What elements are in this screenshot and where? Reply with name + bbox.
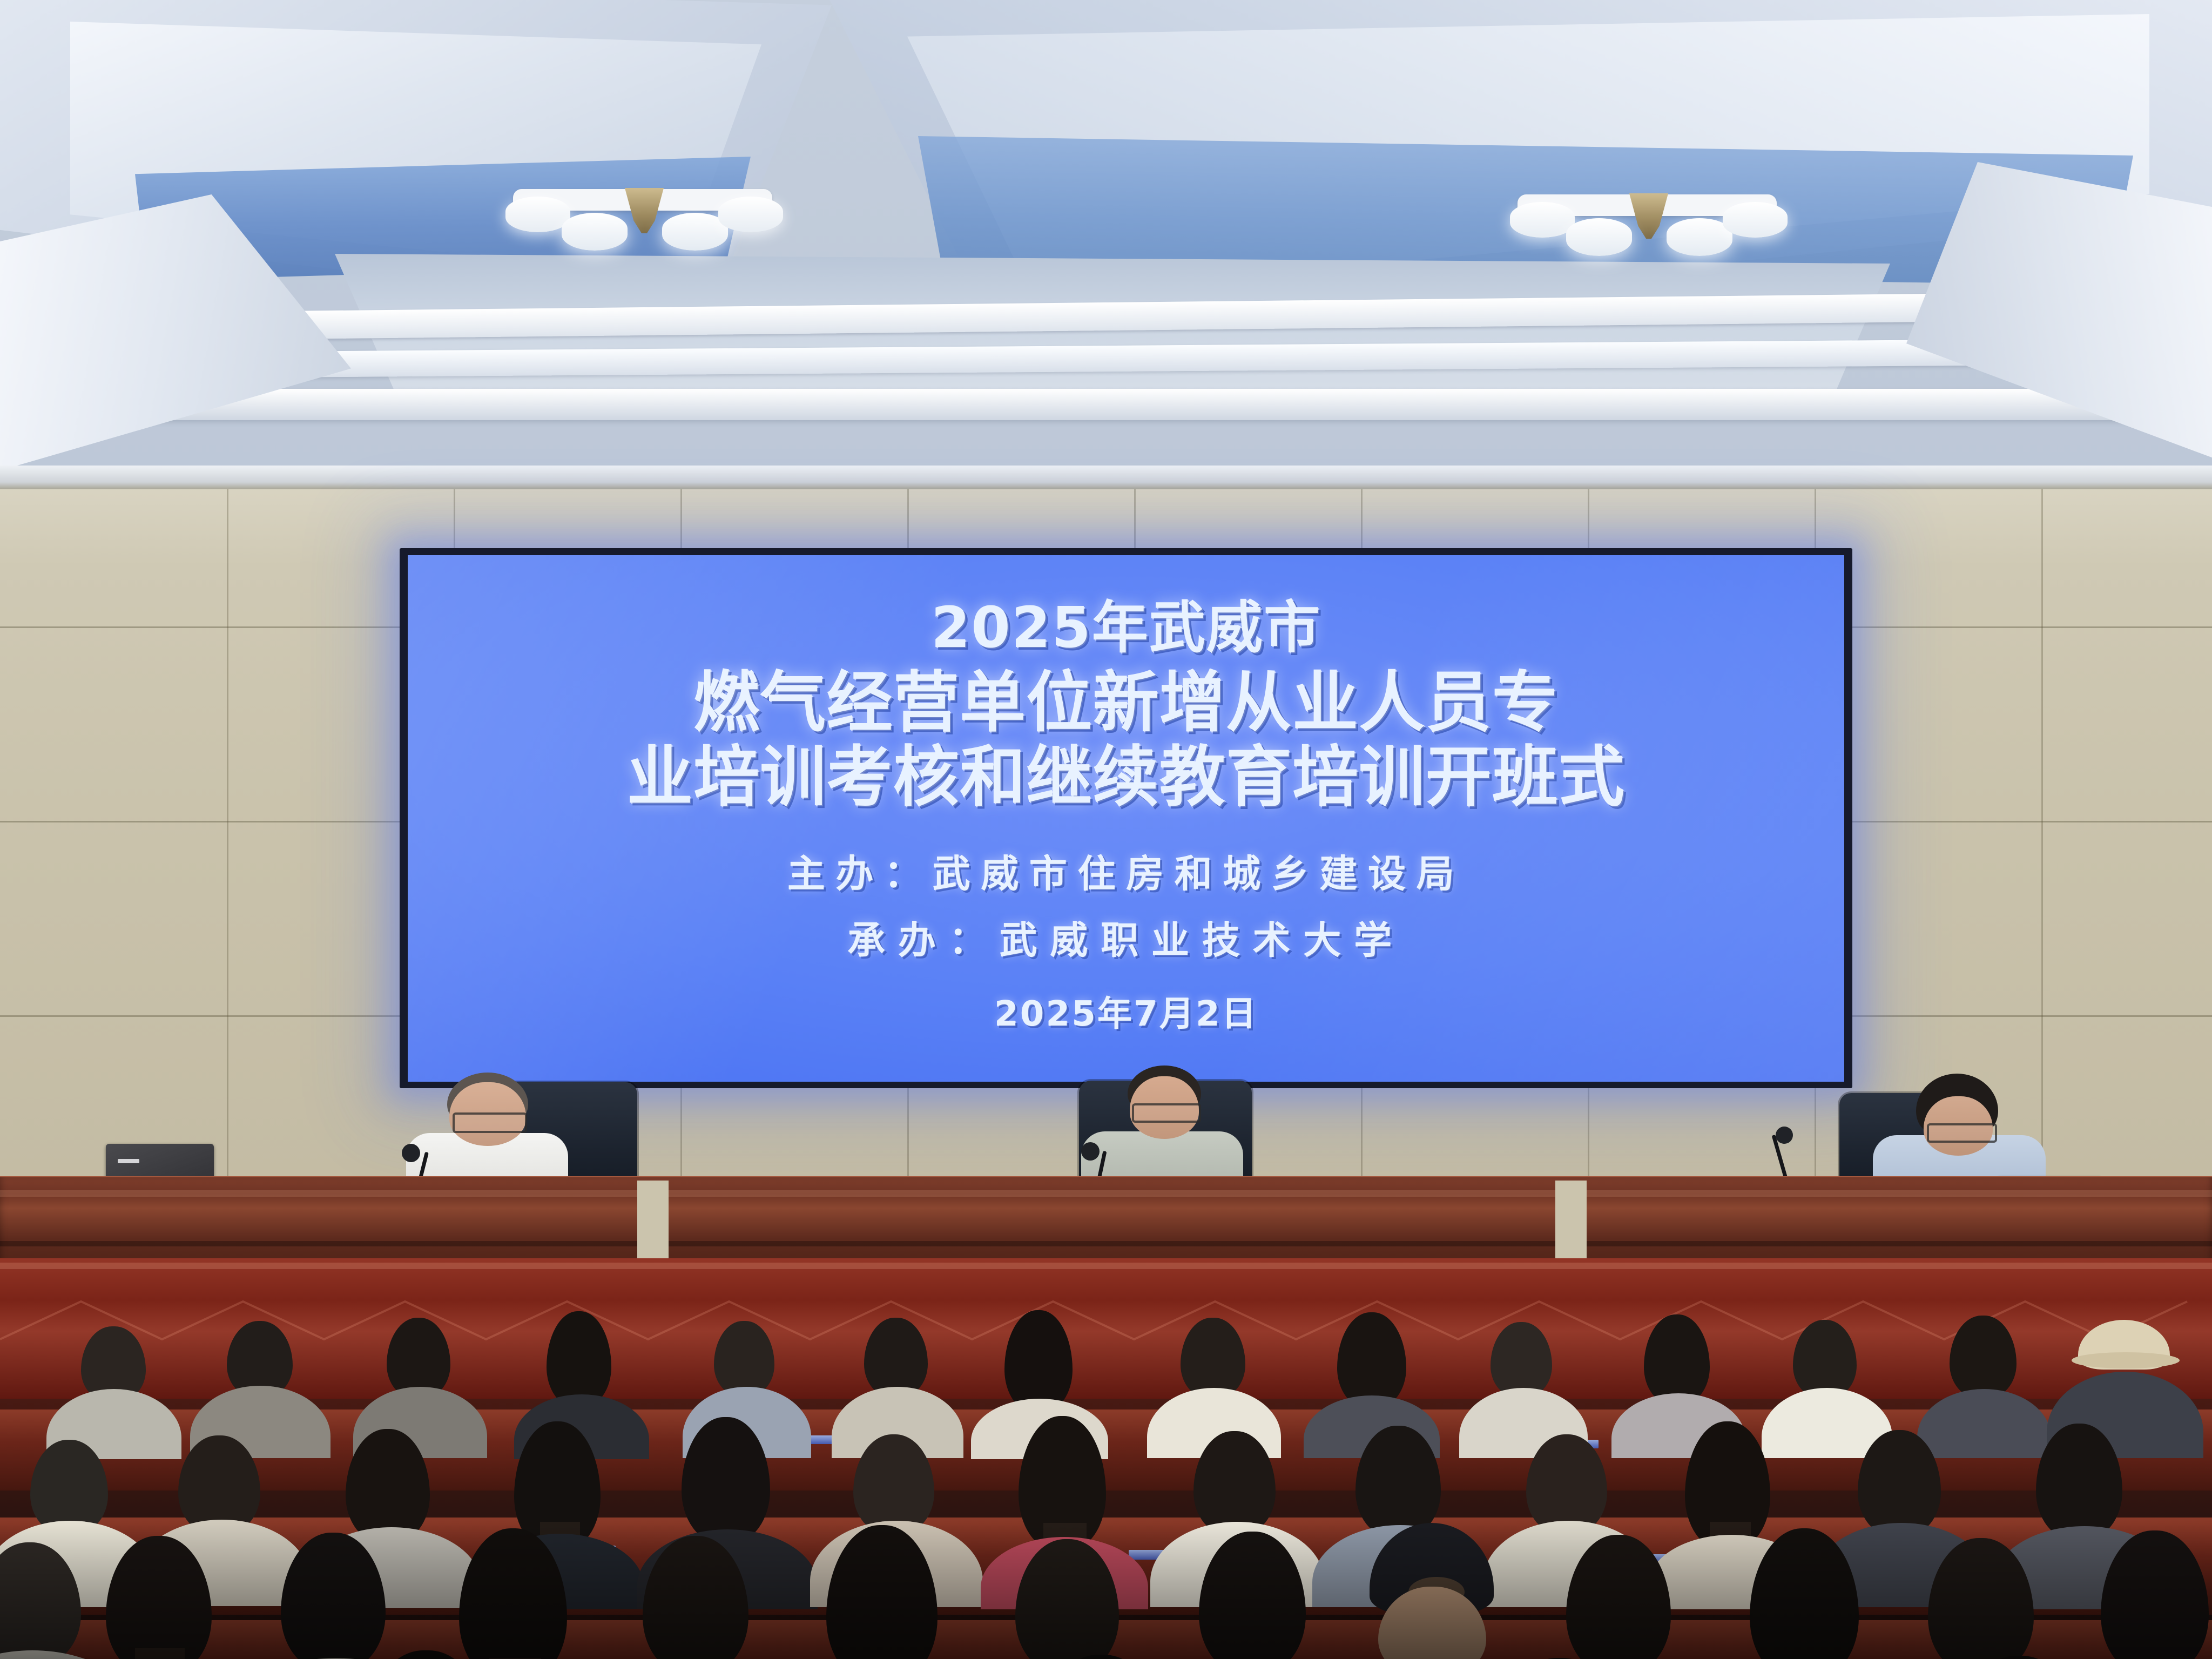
light-lamp-4: [718, 197, 783, 232]
attendee-head: [1950, 1656, 2089, 1659]
presenter-glasses: [1132, 1103, 1201, 1123]
microphone-head[interactable]: [1776, 1127, 1793, 1144]
audience-row-4: [0, 1599, 2212, 1659]
ceiling-light-fixture-left: [502, 173, 794, 275]
laptop-brand-logo: [118, 1159, 139, 1163]
microphone-head[interactable]: [1081, 1142, 1100, 1161]
attendee-head: [714, 1321, 774, 1397]
screen-title-line-1: 2025年武威市: [408, 597, 1844, 658]
led-screen[interactable]: 2025年武威市 燃气经营单位新增从业人员专 业培训考核和继续教育培训开班式 主…: [408, 555, 1844, 1082]
presenter-glasses: [1927, 1123, 1997, 1143]
attendee-head-ponytail: [356, 1650, 496, 1659]
crown-moulding-3: [76, 389, 2149, 420]
desk-moulding-lower: [0, 1241, 2212, 1246]
attendee-head: [1793, 1320, 1857, 1399]
light-lamp-1: [505, 197, 570, 232]
light-lamp-4: [1723, 202, 1788, 238]
light-center-brass: [622, 188, 666, 233]
desk-moulding-upper: [0, 1190, 2212, 1197]
presenter-glasses: [453, 1112, 527, 1133]
screen-title-line-3: 业培训考核和继续教育培训开班式: [408, 742, 1844, 813]
screen-host-line: 主办：武威市住房和城乡建设局: [408, 844, 1844, 898]
screen-organizer-line: 承办：武威职业技术大学: [408, 910, 1844, 965]
ceiling-light-fixture-right: [1507, 178, 1798, 281]
audience-area: ACK: [0, 1296, 2212, 1659]
conference-photo: 2025年武威市 燃气经营单位新增从业人员专 业培训考核和继续教育培训开班式 主…: [0, 0, 2212, 1659]
attendee-head: [864, 1318, 928, 1398]
light-center-brass: [1627, 193, 1671, 239]
wall-cornice: [0, 466, 2212, 489]
light-lamp-1: [1510, 202, 1575, 238]
bench-moulding-top: [0, 1263, 2212, 1269]
attendee-head: [1950, 1316, 2017, 1399]
cap-brim: [2072, 1352, 2180, 1368]
attendee-head: [1181, 1318, 1245, 1399]
light-lamp-2: [1566, 218, 1632, 256]
attendee-head: [1031, 1655, 1171, 1659]
screen-title-line-2: 燃气经营单位新增从业人员专: [408, 667, 1844, 739]
screen-date-line: 2025年7月2日: [408, 986, 1844, 1036]
light-lamp-2: [562, 213, 628, 251]
microphone-head[interactable]: [402, 1144, 420, 1162]
ceiling: [0, 0, 2212, 529]
attendee-head: [1491, 1322, 1552, 1398]
